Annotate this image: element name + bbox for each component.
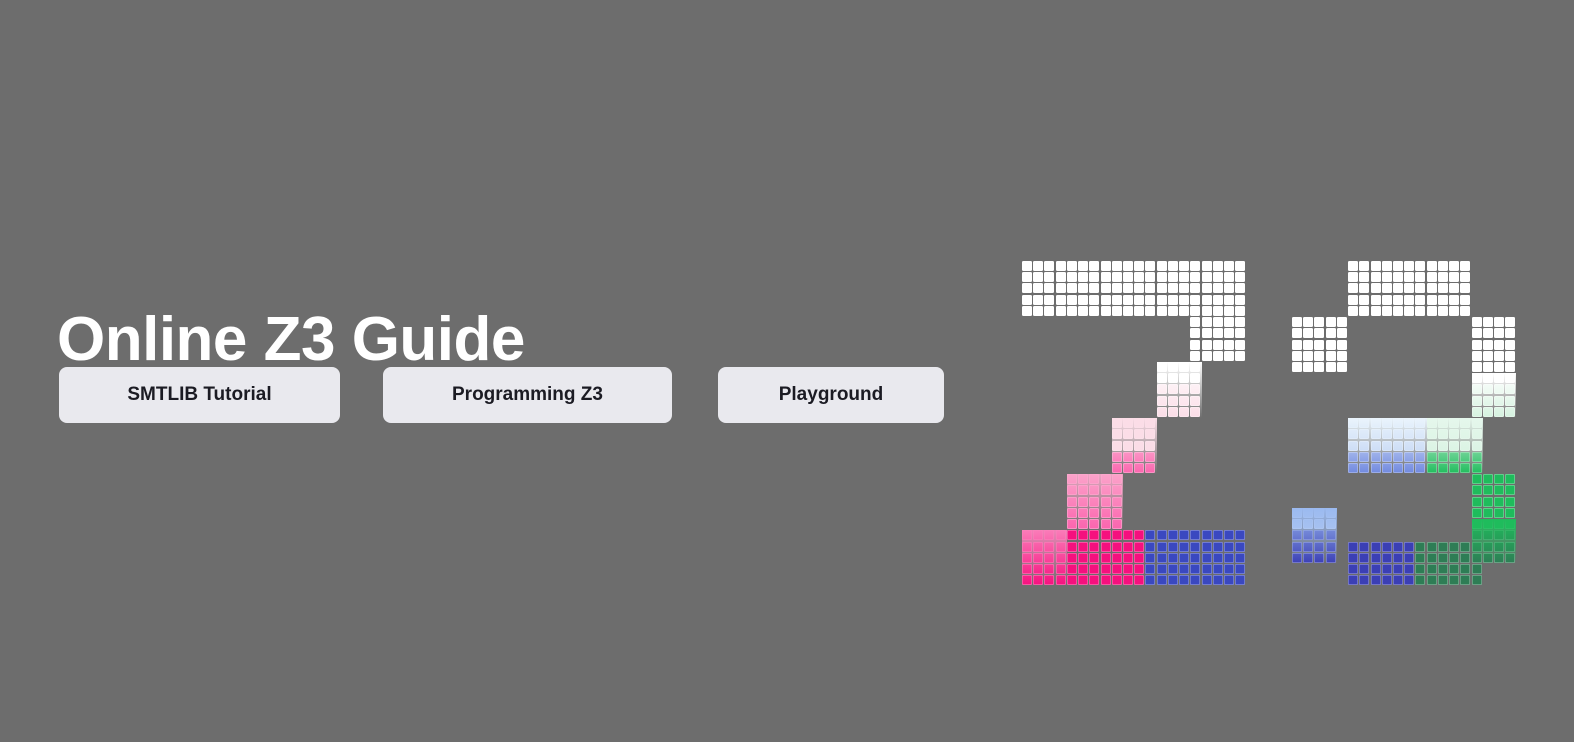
logo-pixel — [1101, 519, 1111, 529]
logo-pixel — [1303, 351, 1313, 361]
logo-pixel — [1190, 384, 1200, 394]
logo-pixel — [1202, 575, 1212, 585]
logo-pixel — [1415, 542, 1425, 552]
logo-pixel — [1179, 272, 1189, 282]
logo-pixel — [1371, 418, 1381, 428]
logo-pixel — [1101, 530, 1111, 540]
logo-pixel — [1078, 508, 1088, 518]
logo-pixel — [1472, 351, 1482, 361]
logo-pixel — [1157, 564, 1167, 574]
logo-pixel — [1359, 272, 1369, 282]
logo-pixel — [1157, 261, 1167, 271]
logo-pixel — [1202, 306, 1212, 316]
logo-pixel — [1427, 306, 1437, 316]
logo-pixel — [1393, 542, 1403, 552]
logo-pixel — [1494, 407, 1504, 417]
logo-pixel — [1427, 418, 1437, 428]
playground-button[interactable]: Playground — [718, 367, 944, 423]
programming-z3-button[interactable]: Programming Z3 — [383, 367, 672, 423]
logo-pixel — [1505, 485, 1515, 495]
logo-pixel — [1157, 407, 1167, 417]
logo-pixel — [1179, 373, 1189, 383]
logo-pixel — [1089, 564, 1099, 574]
logo-pixel — [1112, 429, 1122, 439]
logo-pixel — [1348, 452, 1358, 462]
logo-pixel — [1202, 295, 1212, 305]
page-title: Online Z3 Guide — [57, 304, 525, 376]
logo-pixel — [1337, 362, 1347, 372]
logo-pixel — [1190, 283, 1200, 293]
logo-pixel — [1460, 418, 1470, 428]
logo-pixel — [1235, 261, 1245, 271]
logo-pixel — [1460, 564, 1470, 574]
logo-pixel — [1213, 306, 1223, 316]
logo-pixel — [1472, 519, 1482, 529]
logo-pixel — [1123, 575, 1133, 585]
logo-pixel — [1472, 340, 1482, 350]
logo-pixel — [1067, 575, 1077, 585]
logo-pixel — [1145, 463, 1155, 473]
logo-pixel — [1427, 429, 1437, 439]
logo-pixel — [1494, 384, 1504, 394]
logo-pixel — [1056, 542, 1066, 552]
logo-pixel — [1393, 306, 1403, 316]
logo-pixel — [1112, 295, 1122, 305]
logo-pixel — [1022, 261, 1032, 271]
logo-pixel — [1078, 575, 1088, 585]
logo-pixel — [1303, 519, 1313, 529]
logo-pixel — [1067, 519, 1077, 529]
logo-pixel — [1382, 463, 1392, 473]
logo-pixel — [1179, 564, 1189, 574]
logo-pixel — [1044, 530, 1054, 540]
logo-pixel — [1382, 283, 1392, 293]
logo-pixel — [1382, 452, 1392, 462]
logo-pixel — [1157, 283, 1167, 293]
logo-pixel — [1438, 564, 1448, 574]
logo-pixel — [1303, 542, 1313, 552]
logo-pixel — [1449, 283, 1459, 293]
logo-pixel — [1168, 283, 1178, 293]
logo-pixel — [1022, 272, 1032, 282]
logo-pixel — [1056, 530, 1066, 540]
logo-pixel — [1033, 575, 1043, 585]
logo-pixel — [1145, 306, 1155, 316]
logo-pixel — [1202, 283, 1212, 293]
logo-pixel — [1472, 317, 1482, 327]
logo-pixel — [1472, 485, 1482, 495]
logo-pixel — [1145, 452, 1155, 462]
logo-pixel — [1382, 272, 1392, 282]
logo-pixel — [1145, 283, 1155, 293]
logo-pixel — [1067, 485, 1077, 495]
logo-pixel — [1145, 272, 1155, 282]
logo-pixel — [1348, 261, 1358, 271]
logo-pixel — [1134, 452, 1144, 462]
logo-pixel — [1101, 485, 1111, 495]
logo-pixel — [1078, 261, 1088, 271]
logo-pixel — [1371, 283, 1381, 293]
logo-pixel — [1145, 418, 1155, 428]
logo-pixel — [1337, 317, 1347, 327]
logo-pixel — [1033, 553, 1043, 563]
logo-pixel — [1382, 261, 1392, 271]
logo-pixel — [1190, 272, 1200, 282]
logo-pixel — [1112, 508, 1122, 518]
logo-pixel — [1078, 485, 1088, 495]
logo-pixel — [1190, 306, 1200, 316]
logo-pixel — [1292, 519, 1302, 529]
logo-pixel — [1123, 542, 1133, 552]
logo-pixel — [1472, 463, 1482, 473]
logo-pixel — [1112, 306, 1122, 316]
logo-pixel — [1314, 328, 1324, 338]
logo-pixel — [1202, 272, 1212, 282]
logo-pixel — [1179, 575, 1189, 585]
logo-pixel — [1494, 530, 1504, 540]
logo-pixel — [1089, 542, 1099, 552]
logo-pixel — [1168, 542, 1178, 552]
logo-pixel — [1483, 497, 1493, 507]
logo-pixel — [1134, 418, 1144, 428]
logo-pixel — [1157, 384, 1167, 394]
logo-pixel — [1235, 272, 1245, 282]
logo-pixel — [1460, 575, 1470, 585]
logo-pixel — [1427, 564, 1437, 574]
logo-pixel — [1494, 328, 1504, 338]
logo-pixel — [1494, 497, 1504, 507]
logo-pixel — [1067, 295, 1077, 305]
logo-pixel — [1179, 362, 1189, 372]
logo-pixel — [1292, 553, 1302, 563]
logo-pixel — [1292, 340, 1302, 350]
logo-pixel — [1089, 474, 1099, 484]
logo-pixel — [1202, 340, 1212, 350]
logo-pixel — [1348, 306, 1358, 316]
logo-pixel — [1168, 306, 1178, 316]
logo-pixel — [1235, 283, 1245, 293]
smtlib-tutorial-button[interactable]: SMTLIB Tutorial — [59, 367, 340, 423]
logo-pixel — [1067, 261, 1077, 271]
logo-pixel — [1235, 306, 1245, 316]
logo-pixel — [1123, 553, 1133, 563]
logo-pixel — [1449, 542, 1459, 552]
logo-pixel — [1505, 553, 1515, 563]
logo-pixel — [1190, 575, 1200, 585]
logo-pixel — [1145, 575, 1155, 585]
logo-pixel — [1056, 261, 1066, 271]
logo-pixel — [1415, 564, 1425, 574]
logo-pixel — [1179, 396, 1189, 406]
logo-pixel — [1483, 519, 1493, 529]
logo-pixel — [1089, 497, 1099, 507]
logo-pixel — [1056, 295, 1066, 305]
logo-pixel — [1134, 429, 1144, 439]
logo-pixel — [1460, 261, 1470, 271]
logo-pixel — [1303, 508, 1313, 518]
logo-pixel — [1033, 306, 1043, 316]
logo-pixel — [1190, 530, 1200, 540]
logo-pixel — [1438, 575, 1448, 585]
logo-pixel — [1438, 418, 1448, 428]
logo-pixel — [1168, 261, 1178, 271]
logo-pixel — [1112, 519, 1122, 529]
logo-pixel — [1224, 283, 1234, 293]
logo-pixel — [1371, 463, 1381, 473]
logo-pixel — [1483, 530, 1493, 540]
logo-pixel — [1235, 340, 1245, 350]
logo-pixel — [1449, 306, 1459, 316]
logo-pixel — [1472, 407, 1482, 417]
logo-pixel — [1326, 328, 1336, 338]
logo-pixel — [1505, 519, 1515, 529]
logo-pixel — [1449, 553, 1459, 563]
logo-pixel — [1348, 418, 1358, 428]
logo-pixel — [1112, 553, 1122, 563]
logo-pixel — [1224, 317, 1234, 327]
logo-pixel — [1157, 373, 1167, 383]
logo-pixel — [1033, 261, 1043, 271]
logo-pixel — [1494, 340, 1504, 350]
logo-pixel — [1415, 261, 1425, 271]
logo-pixel — [1371, 452, 1381, 462]
logo-pixel — [1033, 564, 1043, 574]
logo-pixel — [1078, 497, 1088, 507]
logo-pixel — [1314, 553, 1324, 563]
logo-pixel — [1393, 553, 1403, 563]
logo-pixel — [1505, 497, 1515, 507]
logo-pixel — [1235, 295, 1245, 305]
logo-pixel — [1494, 317, 1504, 327]
logo-pixel — [1224, 351, 1234, 361]
logo-pixel — [1033, 542, 1043, 552]
logo-pixel — [1101, 474, 1111, 484]
logo-pixel — [1494, 396, 1504, 406]
logo-pixel — [1213, 575, 1223, 585]
logo-pixel — [1326, 530, 1336, 540]
logo-pixel — [1157, 575, 1167, 585]
logo-pixel — [1056, 306, 1066, 316]
logo-pixel — [1112, 542, 1122, 552]
logo-pixel — [1415, 283, 1425, 293]
logo-pixel — [1101, 575, 1111, 585]
logo-pixel — [1101, 553, 1111, 563]
logo-pixel — [1112, 575, 1122, 585]
logo-pixel — [1145, 441, 1155, 451]
logo-pixel — [1393, 463, 1403, 473]
logo-pixel — [1326, 508, 1336, 518]
logo-pixel — [1494, 519, 1504, 529]
logo-pixel — [1314, 542, 1324, 552]
logo-pixel — [1382, 564, 1392, 574]
logo-pixel — [1404, 575, 1414, 585]
logo-pixel — [1157, 396, 1167, 406]
logo-pixel — [1393, 272, 1403, 282]
logo-pixel — [1449, 295, 1459, 305]
logo-pixel — [1438, 272, 1448, 282]
logo-pixel — [1089, 306, 1099, 316]
logo-pixel — [1483, 407, 1493, 417]
logo-pixel — [1415, 553, 1425, 563]
logo-pixel — [1472, 429, 1482, 439]
logo-pixel — [1022, 575, 1032, 585]
logo-pixel — [1089, 272, 1099, 282]
logo-pixel — [1134, 306, 1144, 316]
logo-pixel — [1123, 295, 1133, 305]
logo-pixel — [1134, 441, 1144, 451]
logo-pixel — [1438, 429, 1448, 439]
logo-pixel — [1326, 362, 1336, 372]
logo-pixel — [1056, 283, 1066, 293]
logo-pixel — [1224, 553, 1234, 563]
logo-pixel — [1067, 474, 1077, 484]
logo-pixel — [1415, 272, 1425, 282]
logo-pixel — [1168, 272, 1178, 282]
logo-pixel — [1314, 508, 1324, 518]
logo-pixel — [1472, 396, 1482, 406]
logo-pixel — [1371, 542, 1381, 552]
logo-pixel — [1213, 328, 1223, 338]
logo-pixel — [1505, 317, 1515, 327]
logo-pixel — [1022, 530, 1032, 540]
logo-pixel — [1168, 553, 1178, 563]
logo-pixel — [1382, 542, 1392, 552]
logo-pixel — [1359, 564, 1369, 574]
logo-pixel — [1134, 542, 1144, 552]
logo-pixel — [1359, 463, 1369, 473]
logo-pixel — [1202, 564, 1212, 574]
logo-pixel — [1078, 553, 1088, 563]
logo-pixel — [1348, 553, 1358, 563]
logo-pixel — [1472, 508, 1482, 518]
logo-pixel — [1044, 553, 1054, 563]
logo-pixel — [1472, 373, 1482, 383]
logo-pixel — [1359, 418, 1369, 428]
logo-pixel — [1483, 474, 1493, 484]
logo-pixel — [1371, 575, 1381, 585]
logo-pixel — [1359, 542, 1369, 552]
logo-pixel — [1123, 261, 1133, 271]
logo-pixel — [1033, 530, 1043, 540]
logo-pixel — [1112, 497, 1122, 507]
logo-pixel — [1427, 295, 1437, 305]
logo-pixel — [1168, 362, 1178, 372]
logo-pixel — [1314, 351, 1324, 361]
logo-pixel — [1393, 295, 1403, 305]
logo-pixel — [1494, 485, 1504, 495]
logo-pixel — [1427, 452, 1437, 462]
logo-pixel — [1404, 542, 1414, 552]
logo-pixel — [1438, 463, 1448, 473]
logo-pixel — [1235, 530, 1245, 540]
logo-pixel — [1123, 283, 1133, 293]
logo-pixel — [1157, 530, 1167, 540]
logo-pixel — [1112, 452, 1122, 462]
logo-pixel — [1427, 283, 1437, 293]
logo-pixel — [1112, 530, 1122, 540]
logo-pixel — [1438, 553, 1448, 563]
logo-pixel — [1235, 351, 1245, 361]
logo-pixel — [1472, 497, 1482, 507]
logo-pixel — [1202, 530, 1212, 540]
logo-pixel — [1112, 564, 1122, 574]
logo-pixel — [1202, 553, 1212, 563]
logo-pixel — [1044, 575, 1054, 585]
logo-pixel — [1472, 530, 1482, 540]
logo-pixel — [1326, 317, 1336, 327]
logo-pixel — [1472, 328, 1482, 338]
logo-pixel — [1044, 283, 1054, 293]
logo-pixel — [1067, 530, 1077, 540]
logo-pixel — [1483, 508, 1493, 518]
logo-pixel — [1292, 351, 1302, 361]
logo-pixel — [1123, 272, 1133, 282]
logo-pixel — [1494, 474, 1504, 484]
logo-pixel — [1359, 441, 1369, 451]
logo-pixel — [1359, 261, 1369, 271]
logo-pixel — [1314, 530, 1324, 540]
logo-pixel — [1382, 575, 1392, 585]
logo-pixel — [1089, 553, 1099, 563]
logo-pixel — [1348, 295, 1358, 305]
logo-pixel — [1382, 295, 1392, 305]
logo-pixel — [1348, 272, 1358, 282]
logo-pixel — [1472, 418, 1482, 428]
logo-pixel — [1190, 564, 1200, 574]
logo-pixel — [1022, 542, 1032, 552]
logo-pixel — [1168, 530, 1178, 540]
logo-pixel — [1123, 306, 1133, 316]
logo-pixel — [1179, 384, 1189, 394]
logo-pixel — [1078, 295, 1088, 305]
logo-pixel — [1190, 373, 1200, 383]
logo-pixel — [1505, 384, 1515, 394]
logo-pixel — [1472, 452, 1482, 462]
logo-pixel — [1449, 429, 1459, 439]
logo-pixel — [1235, 542, 1245, 552]
logo-pixel — [1190, 407, 1200, 417]
logo-pixel — [1112, 418, 1122, 428]
logo-pixel — [1427, 553, 1437, 563]
logo-pixel — [1460, 295, 1470, 305]
logo-pixel — [1168, 373, 1178, 383]
logo-pixel — [1483, 328, 1493, 338]
logo-pixel — [1134, 530, 1144, 540]
logo-pixel — [1438, 261, 1448, 271]
logo-pixel — [1415, 429, 1425, 439]
logo-pixel — [1483, 384, 1493, 394]
logo-pixel — [1190, 295, 1200, 305]
logo-pixel — [1145, 553, 1155, 563]
logo-pixel — [1483, 485, 1493, 495]
logo-pixel — [1438, 452, 1448, 462]
logo-pixel — [1393, 261, 1403, 271]
logo-pixel — [1371, 441, 1381, 451]
logo-pixel — [1123, 530, 1133, 540]
logo-pixel — [1190, 328, 1200, 338]
logo-pixel — [1326, 351, 1336, 361]
logo-pixel — [1438, 283, 1448, 293]
logo-pixel — [1033, 283, 1043, 293]
logo-pixel — [1157, 553, 1167, 563]
logo-pixel — [1292, 530, 1302, 540]
logo-pixel — [1056, 553, 1066, 563]
logo-pixel — [1190, 261, 1200, 271]
logo-pixel — [1202, 261, 1212, 271]
logo-pixel — [1494, 508, 1504, 518]
logo-pixel — [1382, 306, 1392, 316]
logo-pixel — [1179, 295, 1189, 305]
